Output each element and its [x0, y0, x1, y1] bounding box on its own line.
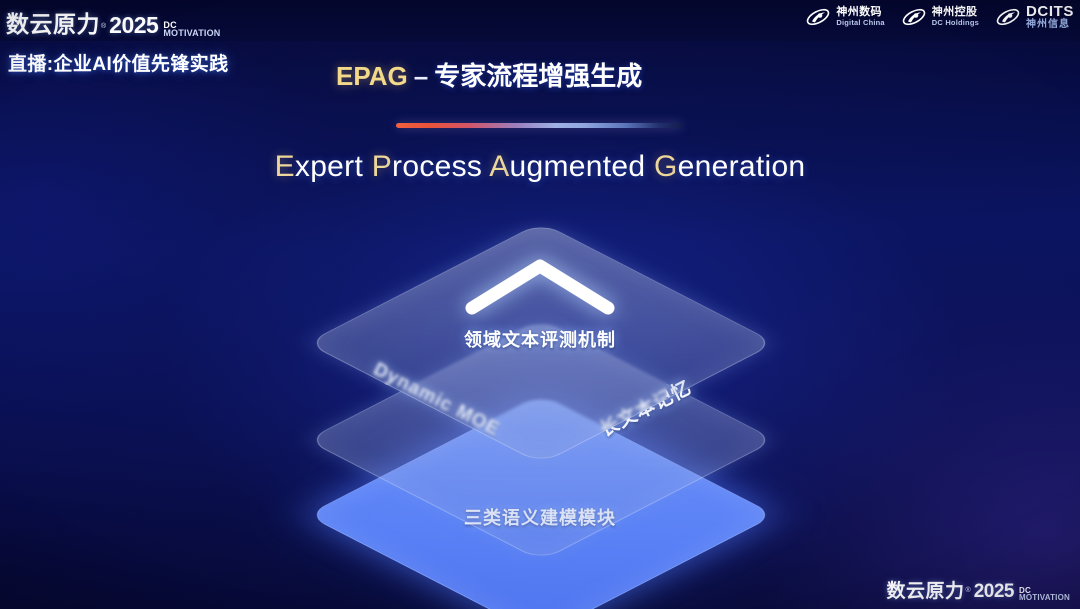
registered-mark: ® — [101, 23, 106, 30]
footer-logo-dc-motivation: DC MOTIVATION — [1019, 587, 1070, 602]
title-divider — [396, 123, 682, 128]
swoosh-icon — [995, 6, 1021, 28]
swoosh-icon — [805, 6, 831, 28]
footer-logo-cn: 数云原力 — [887, 576, 965, 603]
title-dash: – — [408, 61, 434, 91]
partner-text: DCITS 神州信息 — [1026, 4, 1074, 30]
partner-logo-group: 神州数码 Digital China 神州控股 DC Holdings — [805, 4, 1074, 30]
subtitle-cap-a: A — [489, 150, 509, 183]
partner-text: 神州数码 Digital China — [836, 7, 884, 26]
footer-registered-mark: ® — [966, 587, 971, 594]
layer-stack-diagram: 三类语义建模模块 Dynamic MOE 长文本记忆 领域文本评测机制 — [240, 214, 840, 584]
partner-name-en: 神州信息 — [1026, 20, 1074, 30]
subtitle-cap-p: P — [372, 150, 392, 183]
subtitle-word-generation: eneration — [678, 150, 806, 183]
subtitle-word-expert: xpert — [295, 150, 372, 183]
partner-name-cn: DCITS — [1026, 4, 1074, 20]
subtitle-cap-g: G — [654, 150, 678, 183]
page-title: EPAG–专家流程增强生成 — [336, 56, 642, 93]
swoosh-icon — [901, 6, 927, 28]
event-logo: 数云原力 ® 2025 DC MOTIVATION — [6, 5, 221, 39]
layer-label-top: 领域文本评测机制 — [464, 326, 616, 352]
subtitle-word-augmented: ugmented — [510, 150, 654, 183]
partner-name-en: Digital China — [836, 19, 884, 27]
event-logo-dc-motivation: DC MOTIVATION — [163, 21, 220, 38]
partner-name-en: DC Holdings — [932, 19, 979, 27]
live-subtitle: 直播:企业AI价值先锋实践 — [8, 49, 229, 76]
subtitle-word-process: rocess — [392, 150, 489, 183]
chevron-up-icon — [460, 254, 620, 318]
partner-logo-dc-holdings: 神州控股 DC Holdings — [901, 6, 979, 28]
slide-canvas: 数云原力 ® 2025 DC MOTIVATION 直播:企业AI价值先锋实践 … — [0, 0, 1080, 609]
partner-logo-digital-china: 神州数码 Digital China — [805, 6, 884, 28]
partner-text: 神州控股 DC Holdings — [932, 7, 979, 26]
event-logo-motivation: MOTIVATION — [163, 29, 220, 38]
footer-logo-motivation: MOTIVATION — [1019, 594, 1070, 602]
partner-logo-dcits: DCITS 神州信息 — [995, 4, 1074, 30]
subtitle: Expert Process Augmented Generation — [0, 150, 1080, 184]
title-chinese: 专家流程增强生成 — [434, 61, 642, 91]
event-logo-cn: 数云原力 — [6, 5, 100, 39]
footer-logo-year: 2025 — [974, 581, 1014, 603]
title-acronym: EPAG — [336, 61, 408, 91]
event-logo-year: 2025 — [109, 12, 158, 39]
subtitle-cap-e: E — [275, 150, 295, 183]
footer-event-logo: 数云原力 ® 2025 DC MOTIVATION — [887, 576, 1071, 603]
